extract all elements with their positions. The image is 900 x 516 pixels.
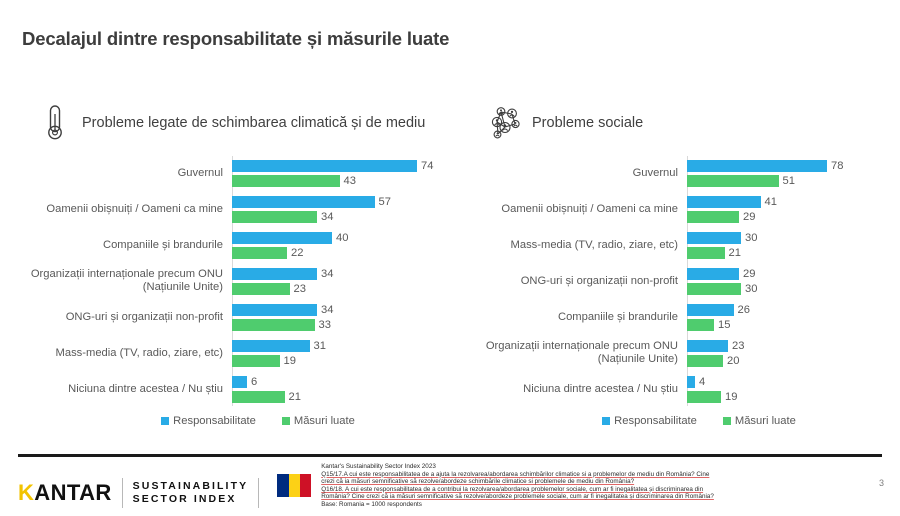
chart-social: Guvernul 78 51 Oamenii obișnuiți / Oamen… [468, 156, 900, 427]
panel-climate-header: Probleme legate de schimbarea climatică … [18, 100, 468, 146]
ssi-line-2: SECTOR INDEX [133, 493, 249, 506]
bar-action: 15 [687, 318, 900, 331]
panel-social: Probleme sociale Guvernul 78 51 [468, 100, 900, 427]
bar-action: 21 [232, 390, 468, 403]
bar-group: 6 21 [232, 375, 468, 403]
category-label: Companiile și brandurile [468, 311, 687, 324]
bar-action: 22 [232, 246, 468, 259]
page-title: Decalajul dintre responsabilitate și măs… [22, 28, 449, 50]
bar-group: 26 15 [687, 303, 900, 331]
chart-row: Oamenii obișnuiți / Oameni ca mine 41 29 [468, 192, 900, 226]
bar-value: 78 [831, 160, 843, 172]
bar-responsibility: 74 [232, 159, 468, 172]
bar-value: 29 [743, 268, 755, 280]
bar-action: 34 [232, 210, 468, 223]
panel-climate-title: Probleme legate de schimbarea climatică … [82, 115, 425, 131]
bar-action: 21 [687, 246, 900, 259]
category-label: Mass-media (TV, radio, ziare, etc) [18, 347, 232, 360]
bar-action: 19 [232, 354, 468, 367]
footnote-q16-line2: România? Cine crezi că ia măsuri semnifi… [321, 493, 882, 501]
legend-swatch-green [282, 417, 290, 425]
bar-group: 40 22 [232, 231, 468, 259]
category-label: Guvernul [468, 167, 687, 180]
thermometer-icon [32, 101, 78, 145]
bar-responsibility: 40 [232, 231, 468, 244]
legend-swatch-blue [602, 417, 610, 425]
romania-flag-icon [277, 474, 311, 497]
category-label: ONG-uri și organizații non-profit [18, 311, 232, 324]
kantar-wordmark: KANTAR [18, 480, 112, 506]
bar-value: 19 [725, 391, 737, 403]
bar-group: 30 21 [687, 231, 900, 259]
bar-value: 30 [745, 232, 757, 244]
category-label: Mass-media (TV, radio, ziare, etc) [468, 239, 687, 252]
bar-group: 78 51 [687, 159, 900, 187]
chart-climate-legend: Responsabilitate Măsuri luate [18, 415, 468, 427]
bar-responsibility: 6 [232, 375, 468, 388]
bar-value: 15 [718, 319, 730, 331]
bar-value: 21 [289, 391, 301, 403]
bar-action: 19 [687, 390, 900, 403]
bar-value: 34 [321, 211, 333, 223]
bar-responsibility: 31 [232, 339, 468, 352]
category-label: Guvernul [18, 167, 232, 180]
bar-value: 43 [344, 175, 356, 187]
bar-responsibility: 23 [687, 339, 900, 352]
bar-group: 34 33 [232, 303, 468, 331]
bar-action: 43 [232, 174, 468, 187]
bar-value: 33 [319, 319, 331, 331]
chart-row: Companiile și brandurile 40 22 [18, 228, 468, 262]
bar-responsibility: 4 [687, 375, 900, 388]
bar-group: 4 19 [687, 375, 900, 403]
bar-action: 29 [687, 210, 900, 223]
chart-row: Niciuna dintre acestea / Nu știu 6 21 [18, 372, 468, 406]
bar-group: 41 29 [687, 195, 900, 223]
kantar-brand-rest: ANTAR [34, 480, 111, 505]
legend-label: Responsabilitate [173, 415, 256, 427]
bar-value: 74 [421, 160, 433, 172]
footer-divider [18, 454, 882, 457]
bar-responsibility: 41 [687, 195, 900, 208]
bar-value: 6 [251, 376, 257, 388]
category-label: Organizații internaționale precum ONU (N… [18, 268, 232, 293]
footnote-q15-line2: crezi că ia măsuri semnificative să rezo… [321, 478, 882, 486]
bar-responsibility: 34 [232, 303, 468, 316]
category-label: Companiile și brandurile [18, 239, 232, 252]
chart-social-rows: Guvernul 78 51 Oamenii obișnuiți / Oamen… [468, 156, 900, 406]
footnote-source: Kantar's Sustainability Sector Index 202… [321, 463, 882, 471]
bar-responsibility: 26 [687, 303, 900, 316]
footnotes: Kantar's Sustainability Sector Index 202… [321, 462, 882, 509]
bar-value: 23 [294, 283, 306, 295]
bar-value: 34 [321, 268, 333, 280]
bar-action: 30 [687, 282, 900, 295]
bar-action: 51 [687, 174, 900, 187]
legend-swatch-blue [161, 417, 169, 425]
footnote-base: Base: Romania = 1000 respondents [321, 501, 882, 509]
chart-row: Companiile și brandurile 26 15 [468, 300, 900, 334]
bar-responsibility: 30 [687, 231, 900, 244]
category-label: Niciuna dintre acestea / Nu știu [18, 383, 232, 396]
bar-group: 57 34 [232, 195, 468, 223]
chart-row: ONG-uri și organizații non-profit 34 33 [18, 300, 468, 334]
bar-value: 31 [314, 340, 326, 352]
bar-action: 23 [232, 282, 468, 295]
legend-label: Responsabilitate [614, 415, 697, 427]
footer: KANTAR SUSTAINABILITY SECTOR INDEX Kanta… [18, 462, 882, 510]
panel-climate: Probleme legate de schimbarea climatică … [18, 100, 468, 427]
footnote-q15-line1: Q15/17.A cui este responsabilitatea de a… [321, 471, 882, 479]
chart-row: Organizații internaționale precum ONU (N… [468, 336, 900, 370]
bar-value: 21 [729, 247, 741, 259]
bar-value: 51 [783, 175, 795, 187]
bar-value: 41 [765, 196, 777, 208]
bar-value: 30 [745, 283, 757, 295]
bar-value: 40 [336, 232, 348, 244]
chart-climate: Guvernul 74 43 Oamenii obișnuiți / Oamen… [18, 156, 468, 427]
bar-group: 34 23 [232, 267, 468, 295]
bar-group: 23 20 [687, 339, 900, 367]
bar-group: 74 43 [232, 159, 468, 187]
category-label: Organizații internaționale precum ONU (N… [468, 340, 687, 365]
category-label: Niciuna dintre acestea / Nu știu [468, 383, 687, 396]
legend-swatch-green [723, 417, 731, 425]
bar-responsibility: 57 [232, 195, 468, 208]
chart-row: Mass-media (TV, radio, ziare, etc) 31 19 [18, 336, 468, 370]
people-network-icon [482, 101, 528, 145]
legend-item-action[interactable]: Măsuri luate [282, 415, 355, 427]
chart-row: Guvernul 74 43 [18, 156, 468, 190]
bar-action: 33 [232, 318, 468, 331]
logo-divider-2 [258, 478, 259, 508]
category-label: Oamenii obișnuiți / Oameni ca mine [18, 203, 232, 216]
legend-label: Măsuri luate [294, 415, 355, 427]
legend-item-responsibility[interactable]: Responsabilitate [602, 415, 697, 427]
category-label: Oamenii obișnuiți / Oameni ca mine [468, 203, 687, 216]
chart-row: ONG-uri și organizații non-profit 29 30 [468, 264, 900, 298]
chart-row: Organizații internaționale precum ONU (N… [18, 264, 468, 298]
panel-social-header: Probleme sociale [468, 100, 900, 146]
bar-value: 4 [699, 376, 705, 388]
sustainability-sector-index-wordmark: SUSTAINABILITY SECTOR INDEX [133, 480, 249, 506]
chart-row: Oamenii obișnuiți / Oameni ca mine 57 34 [18, 192, 468, 226]
legend-item-action[interactable]: Măsuri luate [723, 415, 796, 427]
kantar-logo: KANTAR SUSTAINABILITY SECTOR INDEX [18, 462, 269, 516]
bar-value: 57 [379, 196, 391, 208]
kantar-accent-letter: K [18, 480, 34, 505]
footnote-q16-line1: Q16/18. A cui este responsabilitatea de … [321, 486, 882, 494]
page-number: 3 [879, 478, 884, 488]
bar-responsibility: 78 [687, 159, 900, 172]
bar-group: 29 30 [687, 267, 900, 295]
bar-value: 23 [732, 340, 744, 352]
bar-value: 22 [291, 247, 303, 259]
panel-social-title: Probleme sociale [532, 115, 643, 131]
chart-row: Mass-media (TV, radio, ziare, etc) 30 21 [468, 228, 900, 262]
chart-climate-rows: Guvernul 74 43 Oamenii obișnuiți / Oamen… [18, 156, 468, 406]
bar-action: 20 [687, 354, 900, 367]
chart-social-legend: Responsabilitate Măsuri luate [468, 415, 900, 427]
bar-responsibility: 34 [232, 267, 468, 280]
chart-row: Niciuna dintre acestea / Nu știu 4 19 [468, 372, 900, 406]
bar-value: 20 [727, 355, 739, 367]
bar-value: 26 [738, 304, 750, 316]
bar-value: 19 [284, 355, 296, 367]
bar-responsibility: 29 [687, 267, 900, 280]
chart-row: Guvernul 78 51 [468, 156, 900, 190]
ssi-line-1: SUSTAINABILITY [133, 480, 249, 493]
category-label: ONG-uri și organizații non-profit [468, 275, 687, 288]
bar-value: 34 [321, 304, 333, 316]
bar-group: 31 19 [232, 339, 468, 367]
legend-item-responsibility[interactable]: Responsabilitate [161, 415, 256, 427]
bar-value: 29 [743, 211, 755, 223]
legend-label: Măsuri luate [735, 415, 796, 427]
logo-divider-1 [122, 478, 123, 508]
